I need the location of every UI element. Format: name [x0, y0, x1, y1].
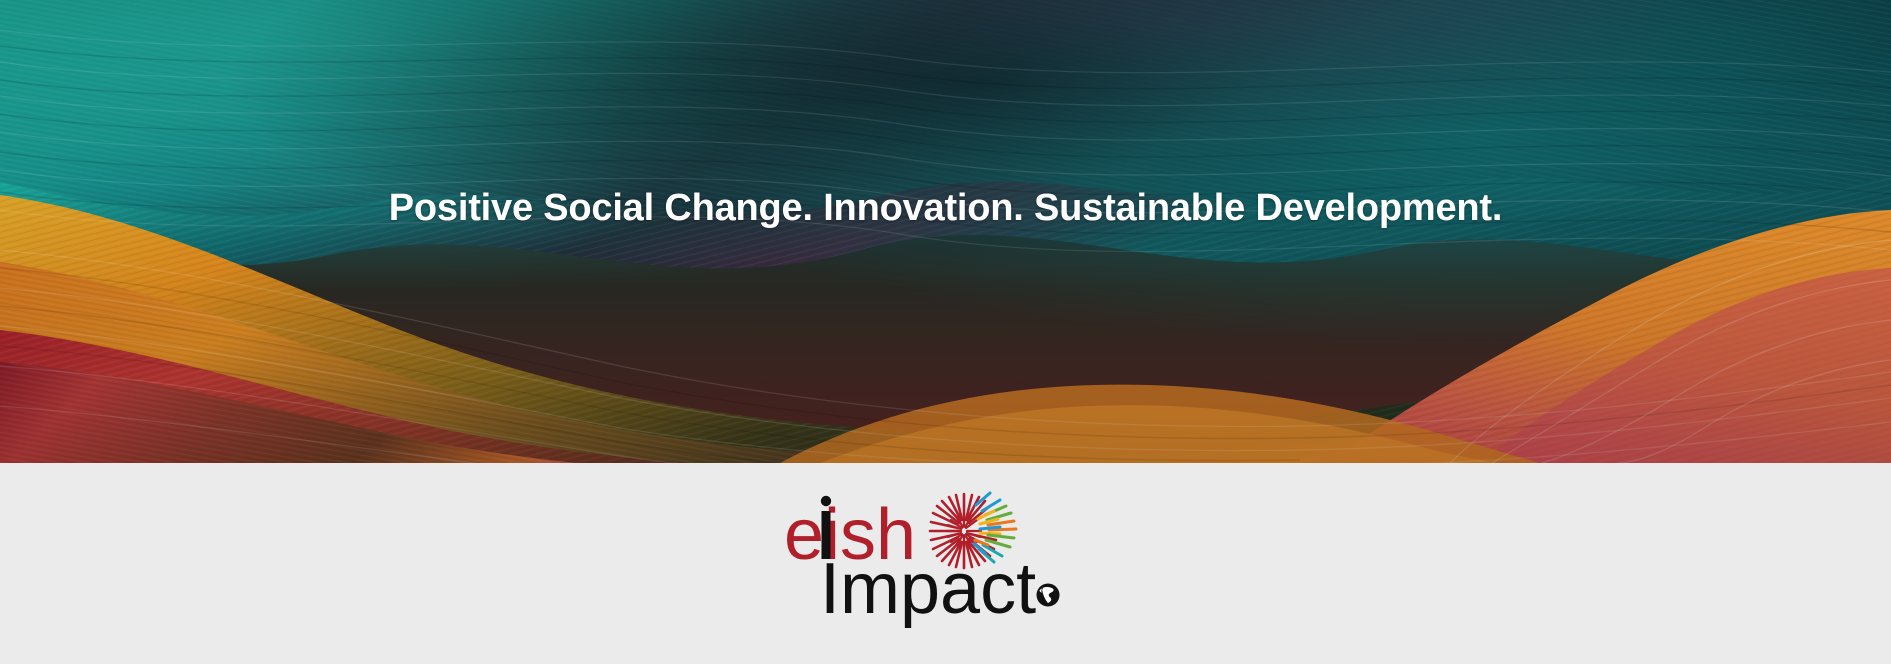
logo-text-impact: Impact [820, 549, 1036, 629]
hero-background-artwork [0, 0, 1891, 463]
logo-band: eish Impact [0, 463, 1891, 664]
eish-impact-logo[interactable]: eish Impact [776, 487, 1116, 647]
logo-i-dot [820, 496, 830, 506]
page-root: Positive Social Change. Innovation. Sust… [0, 0, 1891, 664]
logo-artwork: eish Impact [776, 487, 1116, 647]
globe-icon [1036, 584, 1059, 607]
hero-banner: Positive Social Change. Innovation. Sust… [0, 0, 1891, 463]
